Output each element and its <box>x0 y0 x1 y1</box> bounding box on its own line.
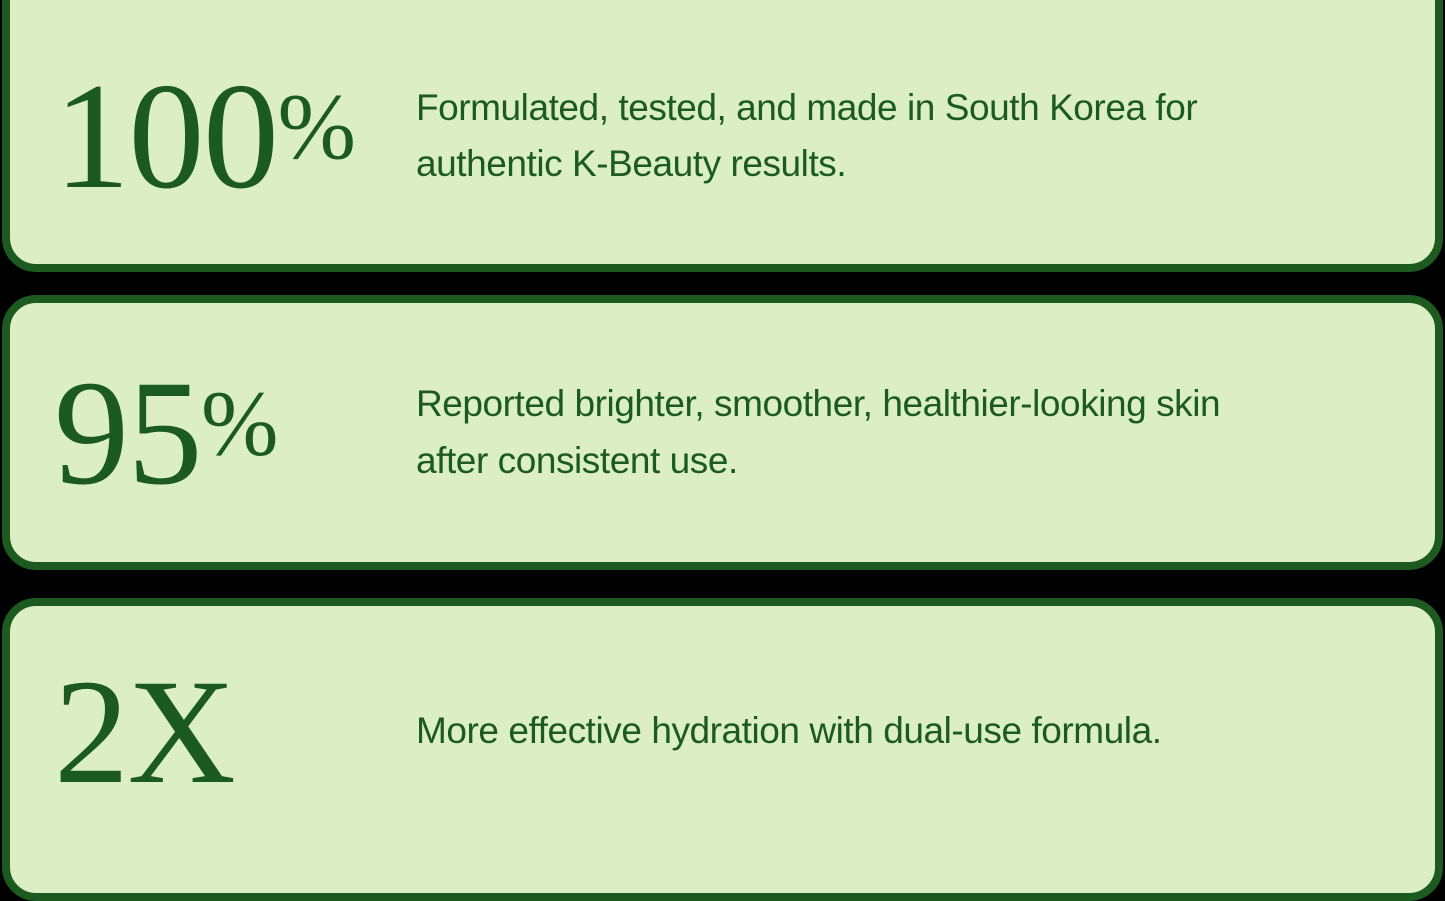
stat-card-100-percent: 100% Formulated, tested, and made in Sou… <box>2 0 1443 272</box>
stat-card-content: 100% Formulated, tested, and made in Sou… <box>10 0 1435 264</box>
stat-description-2x: More effective hydration with dual-use f… <box>408 707 1326 755</box>
stat-card-95-percent: 95% Reported brighter, smoother, healthi… <box>2 295 1443 570</box>
stat-figure-2x: 2X <box>10 657 408 807</box>
percent-symbol: % <box>277 76 354 180</box>
stat-card-content: 2X More effective hydration with dual-us… <box>10 606 1435 893</box>
percent-symbol: % <box>201 373 277 476</box>
stat-card-2x: 2X More effective hydration with dual-us… <box>2 598 1443 901</box>
stat-card-content: 95% Reported brighter, smoother, healthi… <box>10 303 1435 562</box>
stats-panel: 100% Formulated, tested, and made in Sou… <box>0 0 1445 867</box>
stat-figure-100-percent: 100% <box>10 60 408 212</box>
stat-figure-number: 95 <box>54 350 201 516</box>
stat-figure-number: 2X <box>54 649 234 815</box>
stat-figure-95-percent: 95% <box>10 358 408 508</box>
stat-figure-number: 100 <box>54 52 277 220</box>
stat-description-95-percent: Reported brighter, smoother, healthier-l… <box>408 376 1326 488</box>
stat-description-100-percent: Formulated, tested, and made in South Ko… <box>408 80 1326 192</box>
